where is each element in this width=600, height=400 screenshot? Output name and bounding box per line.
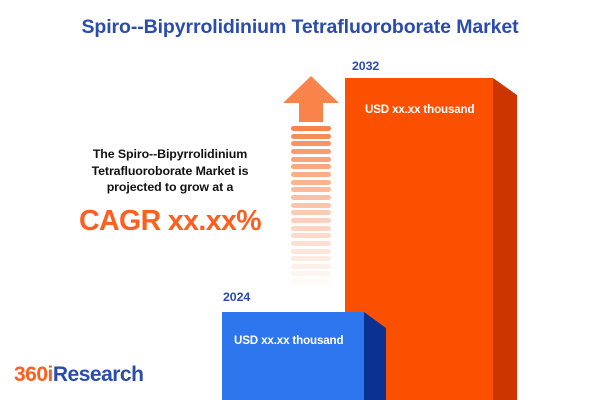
arrow-gradient-bar xyxy=(291,279,331,284)
arrow-gradient-bar xyxy=(291,141,331,146)
arrow-gradient-bar xyxy=(291,249,331,254)
bar-2024-value-label: USD xx.xx thousand xyxy=(234,334,343,347)
arrow-gradient-bar xyxy=(291,233,331,238)
year-label-2024: 2024 xyxy=(223,290,250,304)
arrow-gradient-bar xyxy=(291,187,331,192)
brand-logo-part-2: Research xyxy=(53,363,144,386)
arrow-gradient-bar xyxy=(291,241,331,246)
brand-logo: 360iResearch xyxy=(14,363,143,387)
page-title: Spiro--Bipyrrolidinium Tetrafluoroborate… xyxy=(0,16,600,39)
bar-2024-front-face xyxy=(222,312,364,400)
arrow-gradient-bar xyxy=(291,149,331,154)
arrow-head-icon xyxy=(283,76,339,122)
arrow-gradient-bar xyxy=(291,195,331,200)
arrow-gradient-bar xyxy=(291,180,331,185)
infographic-canvas: Spiro--Bipyrrolidinium Tetrafluoroborate… xyxy=(0,0,600,400)
callout-line-2: Tetrafluoroborate Market is xyxy=(60,163,280,180)
arrow-gradient-bar xyxy=(291,126,331,131)
arrow-gradient-bar xyxy=(291,172,331,177)
arrow-gradient-bar xyxy=(291,287,331,292)
cagr-value: CAGR xx.xx% xyxy=(60,205,280,237)
bar-2032-value-label: USD xx.xx thousand xyxy=(365,103,474,116)
callout-line-3: projected to grow at a xyxy=(60,179,280,196)
bar-2032-side-face xyxy=(493,78,517,400)
arrow-gradient-bar xyxy=(291,271,331,276)
bar-2024: USD xx.xx thousand xyxy=(222,312,364,400)
arrow-gradient-bar xyxy=(291,164,331,169)
arrow-gradient-bar xyxy=(291,256,331,261)
arrow-gradient-bar xyxy=(291,210,331,215)
year-label-2032: 2032 xyxy=(352,59,379,73)
arrow-gradient-bar xyxy=(291,203,331,208)
arrow-gradient-bar xyxy=(291,226,331,231)
callout-text-block: The Spiro--Bipyrrolidinium Tetrafluorobo… xyxy=(60,146,280,237)
arrow-gradient-bar xyxy=(291,134,331,139)
arrow-gradient-bar xyxy=(291,264,331,269)
arrow-gradient-bars xyxy=(291,126,331,292)
arrow-gradient-bar xyxy=(291,218,331,223)
growth-arrow-up-icon xyxy=(283,76,339,292)
callout-line-1: The Spiro--Bipyrrolidinium xyxy=(60,146,280,163)
brand-logo-part-1: 360i xyxy=(14,363,53,386)
arrow-gradient-bar xyxy=(291,157,331,162)
